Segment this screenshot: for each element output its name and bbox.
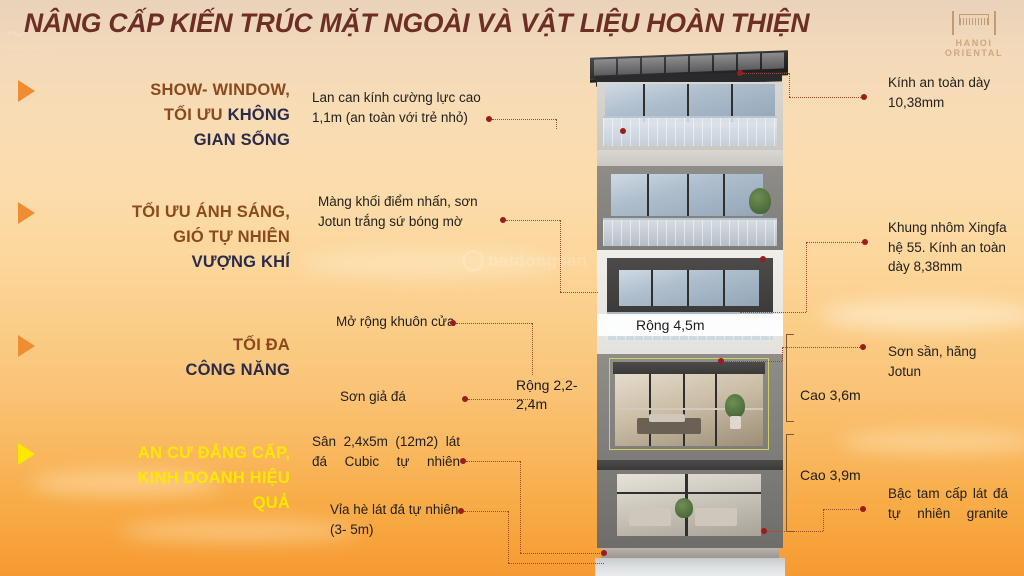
cloud-wisp bbox=[300, 250, 560, 278]
annotation-yard: Sân 2,4x5m (12m2) lát đá Cubic tự nhiên bbox=[312, 432, 460, 471]
leader-dot-safety-glass bbox=[861, 94, 867, 100]
lintel bbox=[613, 362, 765, 374]
floor-band-a bbox=[597, 150, 783, 166]
dimension-width-door: Rộng 2,2-2,4m bbox=[516, 376, 582, 414]
floor-two-accent bbox=[597, 250, 783, 354]
floor-ground-showroom bbox=[597, 460, 783, 548]
feature-line: VƯỢNG KHÍ bbox=[192, 253, 290, 271]
annotation-safety-glass: Kính an toàn dày 10,38mm bbox=[888, 73, 1008, 112]
leader-line bbox=[743, 73, 789, 74]
showroom-glazing bbox=[617, 474, 761, 536]
watermark-center-label: batdongsan bbox=[488, 251, 587, 271]
annotation-stone-paint: Sơn giả đá bbox=[340, 387, 460, 407]
brand-name-line2: ORIENTAL bbox=[936, 48, 1012, 58]
annotation-door-frame: Mở rộng khuôn cửa bbox=[336, 312, 456, 332]
feature-item-premium-living[interactable]: AN CƯ ĐẲNG CẤP, KINH DOANH HIỆU QUẢ bbox=[18, 441, 290, 516]
triangle-bullet-icon bbox=[18, 202, 35, 224]
showroom-plant bbox=[675, 498, 693, 518]
showroom-header bbox=[597, 460, 783, 470]
floor-top bbox=[597, 82, 783, 150]
leader-line bbox=[722, 361, 782, 362]
brand-logo: HANOI ORIENTAL bbox=[936, 10, 1012, 58]
brand-name-line1: HANOI bbox=[936, 38, 1012, 48]
feature-line: CÔNG NĂNG bbox=[186, 361, 290, 379]
feature-line: QUẢ bbox=[253, 494, 290, 512]
leader-line bbox=[789, 97, 863, 98]
leader-dot-balcony-glass bbox=[620, 128, 626, 134]
gate-icon bbox=[946, 10, 1002, 36]
leader-line bbox=[556, 119, 557, 129]
cloud-wisp bbox=[840, 430, 1024, 454]
leader-line bbox=[560, 292, 598, 293]
feature-line: TỐI ĐA bbox=[233, 336, 290, 354]
page-title: NÂNG CẤP KIẾN TRÚC MẶT NGOÀI VÀ VẬT LIỆU… bbox=[24, 8, 854, 39]
leader-line bbox=[782, 347, 783, 361]
feature-item-max-function[interactable]: TỐI ĐA CÔNG NĂNG bbox=[18, 333, 290, 383]
feature-line: SHOW- WINDOW, bbox=[150, 81, 290, 99]
leader-line bbox=[823, 509, 824, 531]
floor-three-glazing bbox=[611, 174, 763, 216]
leader-line bbox=[767, 531, 823, 532]
leader-line bbox=[492, 119, 556, 120]
showroom-furniture bbox=[695, 508, 737, 526]
leader-dot-yard-end bbox=[601, 550, 607, 556]
annotation-aluminium-frame: Khung nhôm Xingfa hệ 55. Kính an toàn dà… bbox=[888, 218, 1016, 277]
leader-line bbox=[520, 461, 521, 553]
leader-line bbox=[782, 347, 862, 348]
watermark-center: batdongsan bbox=[462, 250, 587, 272]
leader-line bbox=[823, 509, 863, 510]
annotation-sidewalk: Vỉa hè lát đá tự nhiên (3- 5m) bbox=[330, 500, 470, 539]
annotation-glass-railing: Lan can kính cường lực cao 1,1m (an toàn… bbox=[312, 88, 490, 127]
feature-line: GIAN SỐNG bbox=[194, 131, 290, 149]
leader-line bbox=[466, 461, 520, 462]
leader-dot-textured-paint bbox=[860, 344, 866, 350]
dimension-height-floor1: Cao 3,9m bbox=[800, 466, 861, 485]
floor-two-glazing bbox=[619, 270, 759, 306]
leader-line bbox=[560, 220, 561, 292]
feature-line: GIÓ TỰ NHIÊN bbox=[173, 228, 290, 246]
plant-pot bbox=[730, 416, 741, 429]
height-bracket-floor1 bbox=[786, 434, 794, 532]
annotation-textured-paint: Sơn sần, hãng Jotun bbox=[888, 342, 1006, 381]
cloud-wisp bbox=[820, 300, 1024, 330]
feature-line: KHÔNG bbox=[228, 106, 290, 124]
watermark-flower-icon bbox=[462, 250, 484, 272]
feature-line: TỐI ƯU bbox=[164, 106, 228, 124]
showroom-furniture bbox=[629, 508, 671, 526]
dimension-width-total: Rộng 4,5m bbox=[636, 316, 704, 335]
leader-dot-window-frame bbox=[760, 256, 766, 262]
leader-line bbox=[508, 563, 604, 564]
floor-one bbox=[597, 354, 783, 460]
height-bracket-floor2 bbox=[786, 334, 794, 422]
leader-line bbox=[806, 242, 864, 243]
leader-line bbox=[520, 553, 604, 554]
leader-line bbox=[806, 242, 807, 312]
leader-line bbox=[508, 511, 509, 563]
triangle-bullet-icon bbox=[18, 443, 35, 465]
watermark-zigzag-icon: 〜 bbox=[6, 26, 25, 45]
triangle-bullet-icon bbox=[18, 335, 35, 357]
interior-plant bbox=[725, 394, 745, 418]
leader-line bbox=[532, 323, 533, 375]
leader-line bbox=[740, 312, 806, 313]
feature-item-natural-light[interactable]: TỐI ƯU ÁNH SÁNG, GIÓ TỰ NHIÊN VƯỢNG KHÍ bbox=[18, 200, 290, 275]
leader-dot-wall bbox=[718, 358, 724, 364]
leader-line bbox=[789, 73, 790, 97]
dimension-height-floor2: Cao 3,6m bbox=[800, 386, 861, 405]
annotation-granite-steps: Bậc tam cấp lát đá tự nhiên granite bbox=[888, 484, 1008, 523]
watermark-top-left-label: batdongsan.com.vn bbox=[6, 46, 126, 52]
balcony-plant bbox=[749, 188, 771, 214]
pavement bbox=[595, 558, 785, 576]
annotation-accent-mass: Màng khối điểm nhấn, sơn Jotun trắng sứ … bbox=[318, 192, 500, 231]
glass-railing-three bbox=[603, 218, 777, 246]
leader-dot-granite-steps bbox=[860, 506, 866, 512]
cloud-wisp bbox=[120, 520, 360, 542]
leader-dot-aluminium-frame bbox=[862, 239, 868, 245]
entry-steps bbox=[601, 548, 779, 558]
feature-line: KINH DOANH HIỆU bbox=[138, 469, 290, 487]
feature-line: TỐI ƯU ÁNH SÁNG, bbox=[132, 203, 290, 221]
interior-table bbox=[649, 414, 685, 422]
leader-line bbox=[464, 511, 508, 512]
feature-line: AN CƯ ĐẲNG CẤP, bbox=[138, 444, 290, 462]
feature-item-show-window[interactable]: SHOW- WINDOW, TỐI ƯU KHÔNG GIAN SỐNG bbox=[18, 78, 290, 153]
leader-line bbox=[506, 220, 560, 221]
accent-recess bbox=[607, 258, 773, 316]
glass-railing-top bbox=[603, 116, 777, 146]
triangle-bullet-icon bbox=[18, 80, 35, 102]
floor-three bbox=[597, 166, 783, 250]
leader-line bbox=[456, 323, 532, 324]
building-illustration bbox=[597, 44, 783, 564]
